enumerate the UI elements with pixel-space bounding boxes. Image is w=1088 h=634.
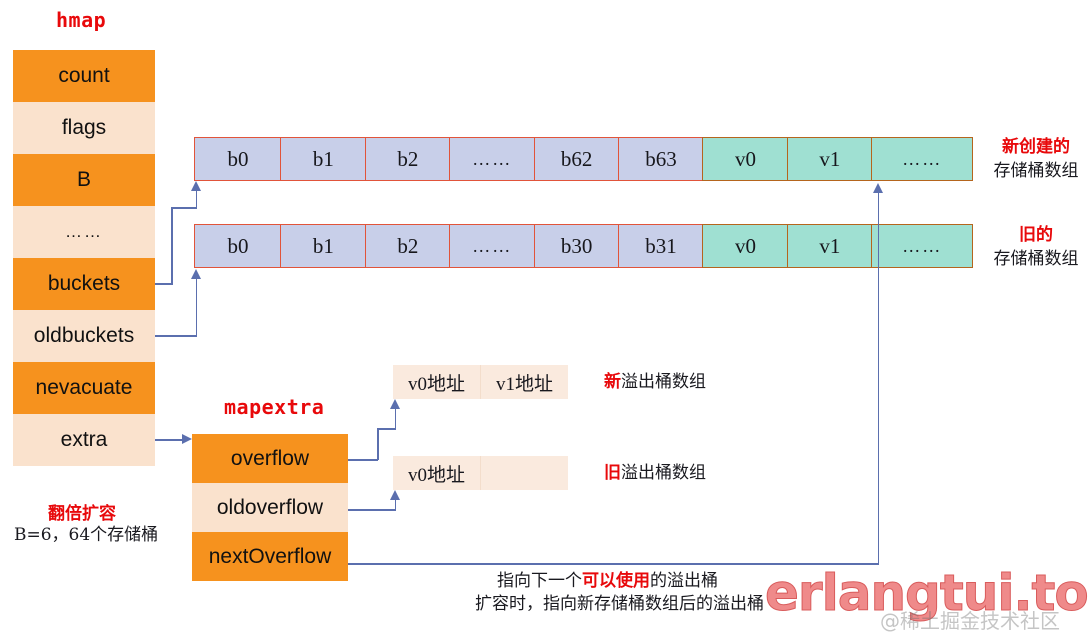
old-buckets-label-bottom: 存储桶数组 (986, 248, 1086, 271)
old-overflow-array: v0地址 (393, 456, 568, 490)
connector-overflow (377, 428, 379, 460)
connector-buckets (171, 207, 173, 285)
connector-oldoverflow (395, 499, 397, 510)
old-bucket-cell[interactable]: b30 (534, 224, 620, 268)
old-overflow-cell-ellipsis: …… (871, 224, 973, 268)
connector-overflow (348, 459, 378, 461)
connector-extra (155, 439, 183, 441)
hmap-field-oldbuckets[interactable]: oldbuckets (13, 310, 155, 362)
connector-oldbuckets-arrowhead (191, 269, 201, 279)
hmap-field-nevacuate[interactable]: nevacuate (13, 362, 155, 414)
hmap-struct: count flags B …… buckets oldbuckets neva… (13, 50, 155, 466)
nextoverflow-note-b: 的溢出桶 (650, 571, 718, 591)
old-buckets-label-top: 旧的 (986, 224, 1086, 247)
connector-oldbuckets (196, 278, 198, 336)
hmap-field-ellipsis: …… (13, 206, 155, 258)
connector-buckets-arrowhead (191, 181, 201, 191)
nextoverflow-note-line2: 扩容时，指向新存储桶数组后的溢出桶 (475, 593, 764, 616)
nextoverflow-note-a: 指向下一个 (497, 571, 582, 591)
mapextra-field-overflow[interactable]: overflow (192, 434, 348, 483)
connector-oldoverflow-arrowhead (390, 490, 400, 500)
mapextra-struct: overflow oldoverflow nextOverflow (192, 434, 348, 581)
new-overflow-label-rest: 溢出桶数组 (621, 372, 706, 392)
new-overflow-addr-cell[interactable]: v1地址 (481, 365, 568, 399)
old-overflow-label-rest: 溢出桶数组 (621, 463, 706, 483)
connector-nextoverflow (878, 192, 880, 564)
new-overflow-label: 新溢出桶数组 (604, 371, 706, 394)
new-overflow-label-red: 新 (604, 372, 621, 392)
mapextra-field-nextoverflow[interactable]: nextOverflow (192, 532, 348, 581)
new-bucket-cell[interactable]: b0 (194, 137, 282, 181)
old-overflow-label-red: 旧 (604, 463, 621, 483)
connector-buckets (171, 207, 197, 209)
connector-overflow-arrowhead (390, 399, 400, 409)
grow-note-title: 翻倍扩容 (48, 503, 116, 526)
new-bucket-cell[interactable]: b1 (280, 137, 366, 181)
old-overflow-addr-cell[interactable]: v0地址 (393, 456, 481, 490)
diagram-canvas: hmap count flags B …… buckets oldbuckets… (0, 0, 1088, 630)
old-overflow-label: 旧溢出桶数组 (604, 462, 706, 485)
new-bucket-cell[interactable]: b62 (534, 137, 620, 181)
connector-oldoverflow (348, 509, 396, 511)
nextoverflow-note-line1: 指向下一个可以使用的溢出桶 (497, 570, 718, 593)
connector-oldbuckets (155, 335, 197, 337)
mapextra-title: mapextra (224, 395, 324, 419)
mapextra-field-oldoverflow[interactable]: oldoverflow (192, 483, 348, 532)
new-buckets-label-bottom: 存储桶数组 (986, 160, 1086, 183)
new-buckets-label-top: 新创建的 (986, 136, 1086, 159)
old-bucket-cell[interactable]: b31 (618, 224, 704, 268)
hmap-field-b[interactable]: B (13, 154, 155, 206)
connector-nextoverflow-arrowhead (873, 183, 883, 193)
old-bucket-cell[interactable]: b1 (280, 224, 366, 268)
new-buckets-array: b0 b1 b2 …… b62 b63 v0 v1 …… (194, 137, 978, 181)
connector-overflow (395, 408, 397, 429)
old-bucket-cell-ellipsis: …… (449, 224, 535, 268)
new-overflow-addr-cell[interactable]: v0地址 (393, 365, 481, 399)
new-bucket-cell-ellipsis: …… (449, 137, 535, 181)
hmap-field-buckets[interactable]: buckets (13, 258, 155, 310)
old-overflow-cell[interactable]: v0 (702, 224, 788, 268)
old-bucket-cell[interactable]: b0 (194, 224, 282, 268)
connector-buckets (196, 190, 198, 208)
hmap-title: hmap (56, 8, 106, 32)
new-bucket-cell[interactable]: b2 (365, 137, 451, 181)
nextoverflow-note-highlight: 可以使用 (582, 571, 650, 591)
hmap-field-flags[interactable]: flags (13, 102, 155, 154)
connector-overflow (377, 428, 396, 430)
old-bucket-cell[interactable]: b2 (365, 224, 451, 268)
new-overflow-cell[interactable]: v0 (702, 137, 788, 181)
grow-note-detail: B=6，64个存储桶 (14, 524, 158, 547)
old-overflow-empty-cell[interactable] (481, 456, 568, 490)
new-overflow-array: v0地址 v1地址 (393, 365, 568, 399)
old-overflow-cell[interactable]: v1 (787, 224, 873, 268)
connector-extra-arrowhead (182, 434, 192, 444)
hmap-field-count[interactable]: count (13, 50, 155, 102)
new-overflow-cell[interactable]: v1 (787, 137, 873, 181)
new-overflow-cell-ellipsis: …… (871, 137, 973, 181)
old-buckets-array: b0 b1 b2 …… b30 b31 v0 v1 …… (194, 224, 978, 268)
new-bucket-cell[interactable]: b63 (618, 137, 704, 181)
hmap-field-extra[interactable]: extra (13, 414, 155, 466)
